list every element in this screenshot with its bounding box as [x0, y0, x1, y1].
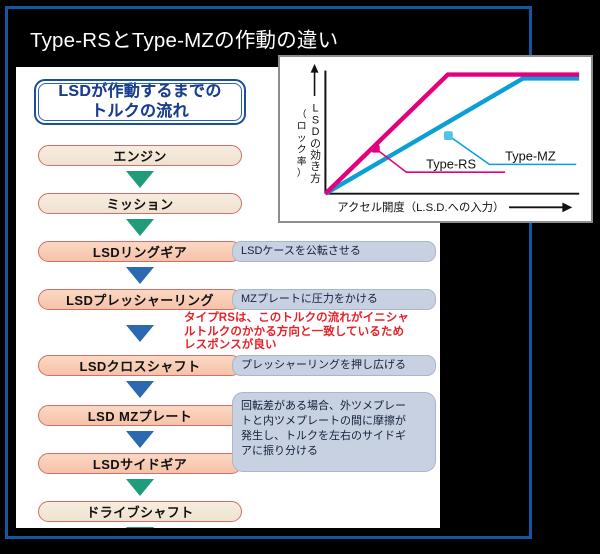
chart-svg: L S D の 効 き 方 （ ロ ッ ク 率 ）: [280, 57, 591, 221]
flow-step-engine[interactable]: エンジン: [38, 145, 242, 166]
note-mz-plate-line4: アに振り分ける: [241, 444, 318, 459]
flow-step-cross-shaft[interactable]: LSDクロスシャフト: [38, 355, 242, 376]
flow-step-side-gear[interactable]: LSDサイドギア: [38, 453, 242, 474]
red-annotation-line3: レスポンスが良い: [184, 339, 409, 353]
note-mz-plate-line3: 発生し、トルクを左右のサイドギ: [241, 429, 406, 444]
flow-step-pressure-ring[interactable]: LSDプレッシャーリング: [38, 289, 242, 310]
chart-label-type-rs: Type-RS: [426, 156, 476, 171]
flow-step-mz-plate[interactable]: LSD MZプレート: [38, 405, 242, 426]
svg-text:効: 効: [310, 149, 321, 162]
red-annotation: タイプRSは、このトルクの流れがイニシャ ルトルクのかかる方向と一致しているため…: [184, 312, 409, 353]
red-annotation-line2: ルトルクのかかる方向と一致しているため: [184, 326, 409, 340]
lsd-response-chart: L S D の 効 き 方 （ ロ ッ ク 率 ）: [278, 55, 593, 223]
flow-arrow-7-green: [126, 479, 154, 496]
svg-text:方: 方: [310, 172, 321, 185]
note-ring-gear: LSDケースを公転させる: [232, 241, 436, 262]
flow-heading-box: LSDが作動するまでの トルクの流れ: [34, 79, 246, 125]
flow-step-drive-shaft[interactable]: ドライブシャフト: [38, 501, 242, 522]
chart-label-type-mz: Type-MZ: [505, 149, 556, 164]
screenshot-root: Type-RSとType-MZの作動の違い LSDが作動するまでの トルクの流れ…: [0, 0, 600, 554]
flow-arrow-8-green: [126, 527, 154, 528]
flow-arrow-5-blue: [126, 381, 154, 398]
svg-text:率: 率: [297, 154, 307, 167]
chart-marker-type-mz: [444, 131, 453, 140]
flow-heading-line1: LSDが作動するまでの: [58, 82, 221, 102]
chart-x-axis-arrow: [509, 202, 572, 212]
red-annotation-line1: タイプRSは、このトルクの流れがイニシャ: [184, 312, 409, 326]
chart-x-axis-label: アクセル開度（L.S.D.への入力）: [337, 200, 504, 214]
note-cross-shaft: プレッシャーリングを押し広げる: [232, 355, 436, 376]
flow-arrow-3-blue: [126, 267, 154, 284]
svg-text:き: き: [310, 161, 321, 173]
flow-step-mission[interactable]: ミッション: [38, 193, 242, 214]
svg-text:ク: ク: [297, 144, 307, 156]
svg-text:D: D: [312, 126, 320, 138]
flow-arrow-6-blue: [126, 431, 154, 448]
chart-y-axis-label: L S D の 効 き 方 （ ロ ッ ク 率 ）: [297, 103, 321, 185]
chart-marker-type-rs: [372, 145, 380, 153]
flow-arrow-2-green: [126, 219, 154, 236]
svg-text:（: （: [297, 109, 307, 121]
flow-heading-line2: トルクの流れ: [91, 102, 189, 122]
note-pressure-ring: MZプレートに圧力をかける: [232, 289, 436, 310]
svg-text:の: の: [310, 138, 321, 150]
note-mz-plate: 回転差がある場合、外ツメプレー トと内ツメプレートの間に摩擦が 発生し、トルクを…: [232, 392, 436, 472]
svg-text:ッ: ッ: [297, 133, 307, 144]
flow-arrow-1-green: [126, 171, 154, 188]
flow-step-ring-gear[interactable]: LSDリングギア: [38, 241, 242, 262]
note-mz-plate-line2: トと内ツメプレートの間に摩擦が: [241, 414, 406, 429]
svg-text:ロ: ロ: [297, 121, 307, 132]
svg-text:）: ）: [297, 167, 307, 179]
svg-text:L: L: [313, 103, 319, 115]
flow-arrow-4-blue: [126, 325, 154, 342]
note-mz-plate-line1: 回転差がある場合、外ツメプレー: [241, 399, 406, 414]
chart-y-axis-arrow: [311, 64, 319, 96]
svg-text:S: S: [312, 114, 319, 126]
page-title: Type-RSとType-MZの作動の違い: [14, 23, 338, 53]
